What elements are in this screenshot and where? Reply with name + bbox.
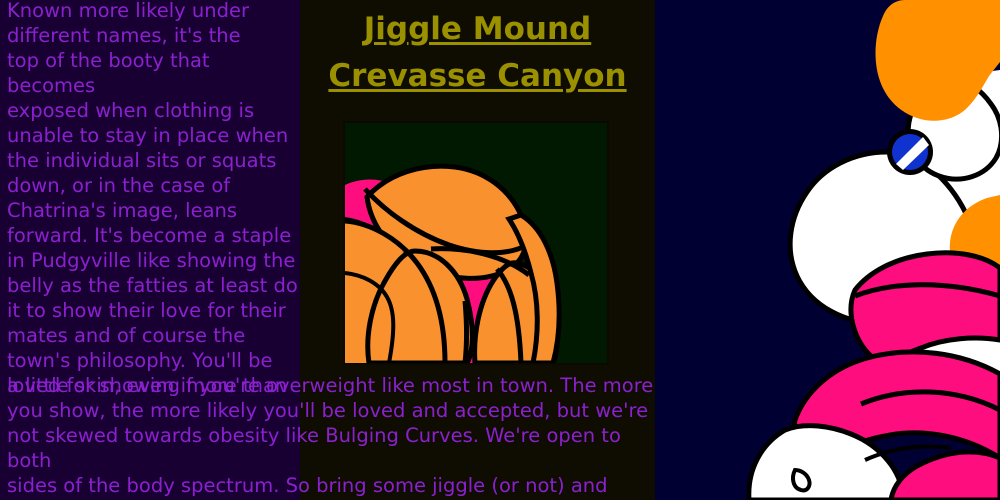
jiggle-mound-illustration bbox=[343, 121, 609, 365]
title-line-2: Crevasse Canyon bbox=[328, 58, 626, 94]
body-text-narrow: Known more likely under different names,… bbox=[7, 0, 299, 398]
page-title: Jiggle Mound Crevasse Canyon bbox=[300, 6, 655, 100]
body-text-wide: a little skin, even if you're overweight… bbox=[7, 373, 657, 500]
chatrina-character-art bbox=[655, 0, 1000, 500]
title-line-1: Jiggle Mound bbox=[364, 11, 591, 47]
page-root: Jiggle Mound Crevasse Canyon bbox=[0, 0, 1000, 500]
